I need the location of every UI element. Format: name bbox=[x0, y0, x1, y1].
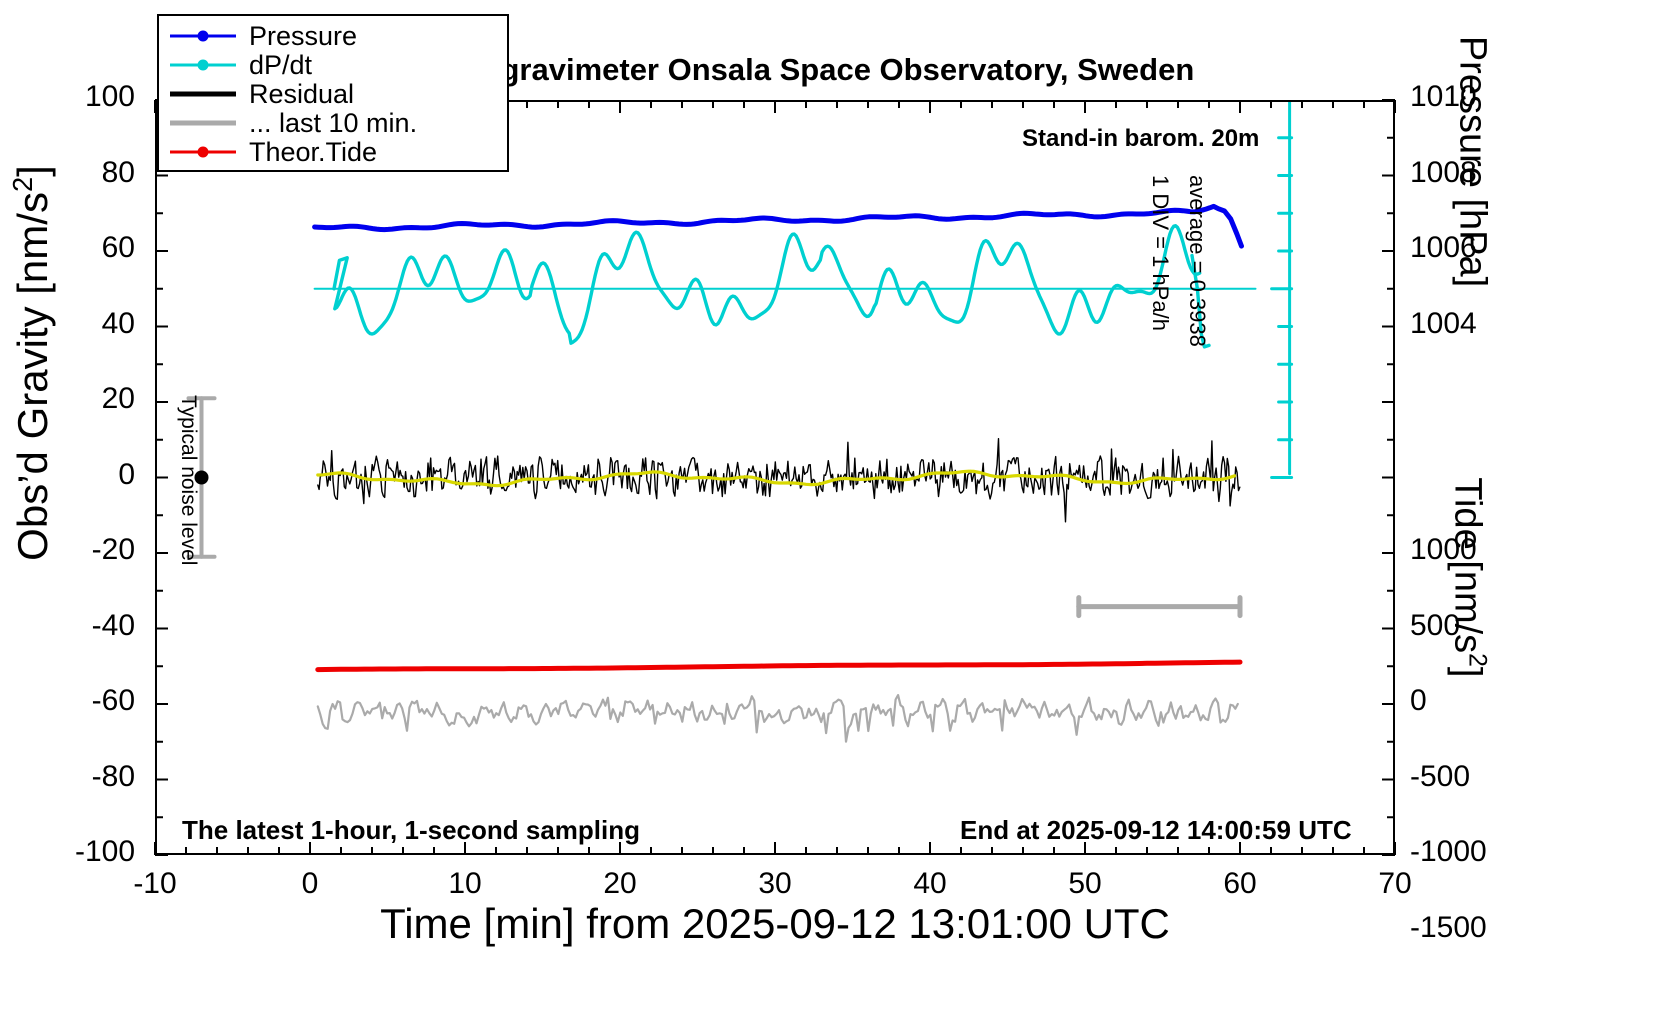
y-axis-right-pressure-title: Pressure [hPa] bbox=[1451, 0, 1494, 402]
annotation-noise-level: Typical noise level bbox=[176, 395, 200, 575]
legend-item[interactable]: ... last 10 min. bbox=[167, 109, 499, 137]
x-axis-tick-label: 10 bbox=[405, 867, 525, 901]
legend-item[interactable]: Residual bbox=[167, 80, 499, 108]
y-axis-left-tick-label: 0 bbox=[10, 458, 135, 492]
y-axis-left-tick-label: 40 bbox=[10, 307, 135, 341]
y-axis-left-tick-label: 20 bbox=[10, 382, 135, 416]
x-axis-tick-label: 40 bbox=[870, 867, 990, 901]
legend-item[interactable]: dP/dt bbox=[167, 51, 499, 79]
legend-item[interactable]: Pressure bbox=[167, 22, 499, 50]
y-axis-right-pressure-tick-label: 1006 bbox=[1410, 231, 1570, 265]
x-axis-tick-label: 70 bbox=[1335, 867, 1455, 901]
legend-swatch-icon bbox=[167, 82, 239, 106]
y-axis-right-tide-tick-label: 500 bbox=[1410, 609, 1580, 643]
annotation-div-scale: 1 DIV = 1 hPa/h bbox=[1147, 175, 1173, 435]
y-axis-left-tick-label: 100 bbox=[10, 80, 135, 114]
x-axis-tick-label: 60 bbox=[1180, 867, 1300, 901]
x-axis-title: Time [min] from 2025-09-12 13:01:00 UTC bbox=[155, 900, 1395, 948]
y-axis-left-tick-label: -100 bbox=[10, 835, 135, 869]
x-axis-tick-label: 50 bbox=[1025, 867, 1145, 901]
chart-legend[interactable]: PressuredP/dtResidual... last 10 min.The… bbox=[157, 14, 509, 172]
annotation-standin-barometer: Stand-in barom. 20m bbox=[1022, 125, 1259, 153]
legend-swatch-icon bbox=[167, 24, 239, 48]
annotation-end-time: End at 2025-09-12 14:00:59 UTC bbox=[960, 815, 1352, 846]
x-axis-tick-label: 30 bbox=[715, 867, 835, 901]
y-axis-left-tick-label: -60 bbox=[10, 684, 135, 718]
y-axis-left-tick-label: 60 bbox=[10, 231, 135, 265]
y-axis-right-tide-tick-label: 0 bbox=[1410, 684, 1580, 718]
y-axis-left-tick-label: 80 bbox=[10, 156, 135, 190]
x-axis-tick-label: 0 bbox=[250, 867, 370, 901]
y-axis-left-tick-label: -20 bbox=[10, 533, 135, 567]
legend-item-label: Theor.Tide bbox=[249, 137, 377, 168]
legend-item-label: Pressure bbox=[249, 21, 357, 52]
y-axis-right-tide-tick-label: -1500 bbox=[1410, 911, 1580, 945]
x-axis-tick-label: 20 bbox=[560, 867, 680, 901]
y-axis-right-pressure-tick-label: 1004 bbox=[1410, 307, 1570, 341]
x-axis-tick-label: -10 bbox=[95, 867, 215, 901]
y-axis-left-tick-label: -40 bbox=[10, 609, 135, 643]
legend-swatch-icon bbox=[167, 111, 239, 135]
legend-item[interactable]: Theor.Tide bbox=[167, 138, 499, 166]
y-axis-right-tide-tick-label: -1000 bbox=[1410, 835, 1580, 869]
legend-item-label: Residual bbox=[249, 79, 354, 110]
legend-swatch-icon bbox=[167, 53, 239, 77]
y-axis-right-pressure-tick-label: 1010 bbox=[1410, 80, 1570, 114]
legend-swatch-icon bbox=[167, 140, 239, 164]
legend-item-label: dP/dt bbox=[249, 50, 312, 81]
y-axis-right-pressure-tick-label: 1008 bbox=[1410, 156, 1570, 190]
y-axis-right-tide-tick-label: -500 bbox=[1410, 760, 1580, 794]
y-axis-right-tide-tick-label: 1000 bbox=[1410, 533, 1580, 567]
annotation-average: average = 0.3938 bbox=[1184, 175, 1210, 435]
annotation-sampling-note: The latest 1-hour, 1-second sampling bbox=[182, 815, 640, 846]
legend-item-label: ... last 10 min. bbox=[249, 108, 417, 139]
y-axis-left-tick-label: -80 bbox=[10, 760, 135, 794]
